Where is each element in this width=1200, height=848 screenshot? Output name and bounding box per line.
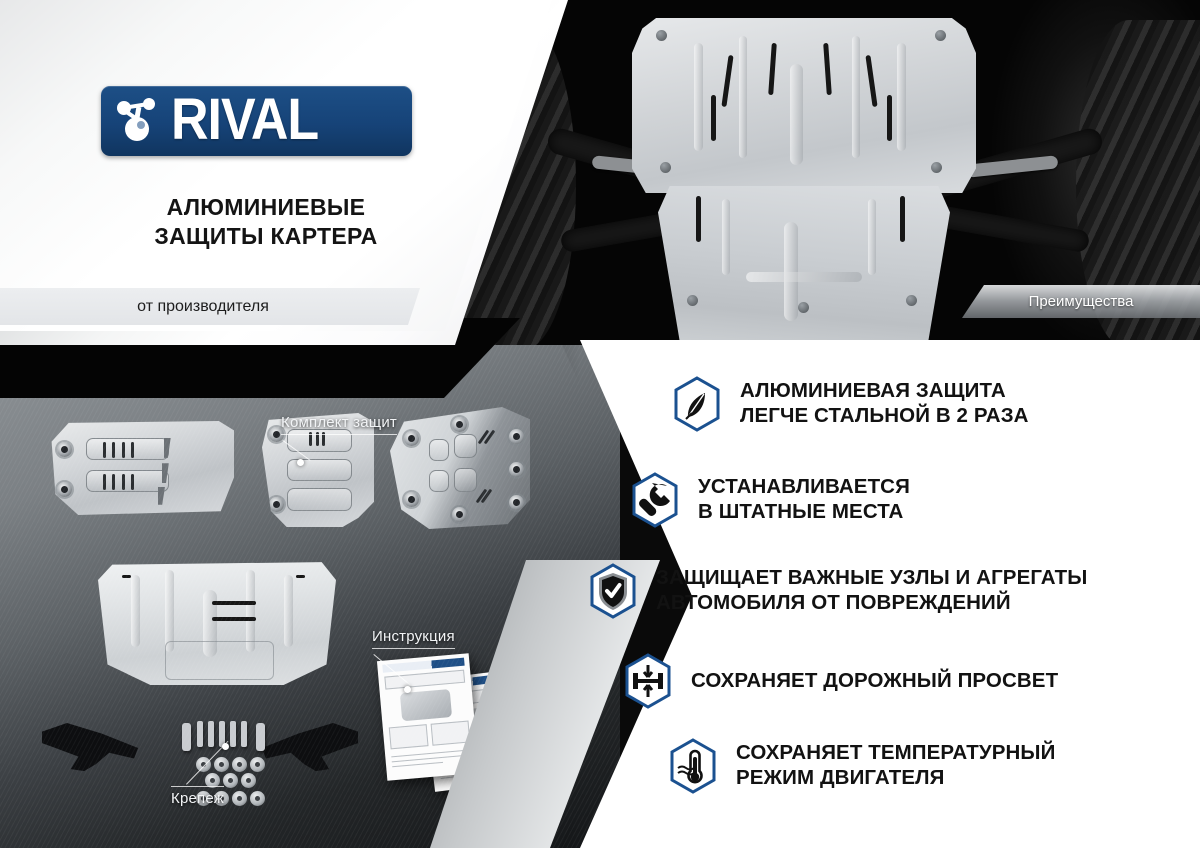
subtitle-bar: от производителя: [0, 288, 420, 325]
ground-clearance-icon: [623, 653, 673, 709]
benefit-text-fitment: УСТАНАВЛИВАЕТСЯ В ШТАТНЫЕ МЕСТА: [698, 475, 910, 524]
wrench-icon: [630, 472, 680, 528]
callout-kit-dot: [297, 459, 304, 466]
callout-kit-label: Комплект защит: [281, 414, 397, 431]
leaf-icon: [672, 376, 722, 432]
shield-check-icon: [588, 563, 638, 619]
page-title-line2: ЗАЩИТЫ КАРТЕРА: [101, 222, 431, 251]
benefit-text-temperature: СОХРАНЯЕТ ТЕМПЕРАТУРНЫЙ РЕЖИМ ДВИГАТЕЛЯ: [736, 741, 1055, 790]
mounting-bracket-left: [42, 723, 138, 771]
engine-skid-plate-lower: [658, 186, 950, 345]
benefit-item-lightweight: АЛЮМИНИЕВАЯ ЗАЩИТА ЛЕГЧЕ СТАЛЬНОЙ В 2 РА…: [672, 376, 1029, 432]
skid-plate-3: [390, 407, 530, 529]
benefit-text-clearance: СОХРАНЯЕТ ДОРОЖНЫЙ ПРОСВЕТ: [691, 669, 1058, 694]
benefit-text-protection: ЗАЩИЩАЕТ ВАЖНЫЕ УЗЛЫ И АГРЕГАТЫ АВТОМОБИ…: [656, 566, 1087, 615]
thermometer-icon: [668, 738, 718, 794]
engine-skid-plate-upper: [632, 18, 976, 193]
callout-instruction-dot: [404, 686, 411, 693]
subtitle-text: от производителя: [137, 298, 283, 316]
rival-logo-text: RIVAL: [171, 93, 318, 148]
poster-root: Комплект защит Инструкция Крепеж: [0, 0, 1200, 848]
callout-instruction: Инструкция: [372, 628, 455, 649]
callout-hardware: Крепеж: [171, 786, 224, 807]
rival-logo: RIVAL: [101, 86, 412, 156]
page-title-line1: АЛЮМИНИЕВЫЕ: [101, 193, 431, 222]
benefit-item-clearance: СОХРАНЯЕТ ДОРОЖНЫЙ ПРОСВЕТ: [623, 653, 1058, 709]
callout-hardware-label: Крепеж: [171, 790, 224, 807]
callout-instruction-label: Инструкция: [372, 628, 455, 645]
advantages-tab: Преимущества: [962, 285, 1200, 318]
molecule-icon: [115, 95, 161, 148]
callout-hardware-dot: [222, 743, 229, 750]
benefit-text-lightweight: АЛЮМИНИЕВАЯ ЗАЩИТА ЛЕГЧЕ СТАЛЬНОЙ В 2 РА…: [740, 379, 1029, 428]
benefit-item-temperature: СОХРАНЯЕТ ТЕМПЕРАТУРНЫЙ РЕЖИМ ДВИГАТЕЛЯ: [668, 738, 1055, 794]
benefit-item-fitment: УСТАНАВЛИВАЕТСЯ В ШТАТНЫЕ МЕСТА: [630, 472, 910, 528]
page-title: АЛЮМИНИЕВЫЕ ЗАЩИТЫ КАРТЕРА: [101, 193, 431, 252]
mounting-bracket-right: [262, 723, 358, 771]
benefit-item-protection: ЗАЩИЩАЕТ ВАЖНЫЕ УЗЛЫ И АГРЕГАТЫ АВТОМОБИ…: [588, 563, 1087, 619]
advantages-tab-label: Преимущества: [1029, 293, 1134, 310]
skid-plate-main: [98, 557, 336, 685]
skid-plate-1: [44, 421, 234, 515]
callout-kit: Комплект защит: [281, 414, 397, 435]
